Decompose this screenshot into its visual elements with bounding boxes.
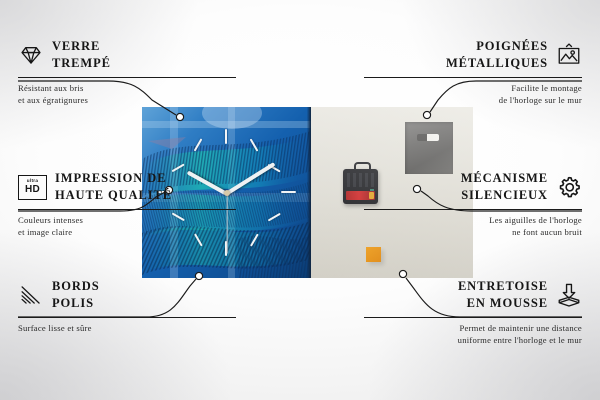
polished-edge-lines-icon (18, 282, 44, 308)
ultra-hd-badge-icon: ultra HD (18, 175, 47, 200)
callout-title: IMPRESSION DE HAUTE QUALITÉ (55, 170, 172, 205)
callout-description: Couleurs intenses et image claire (18, 214, 236, 238)
callout-rule (364, 77, 582, 78)
callout-header: BORDS POLIS (18, 278, 236, 313)
gear-icon (556, 174, 582, 200)
callout-rule (364, 317, 582, 318)
callout-header: MÉCANISME SILENCIEUX (364, 170, 582, 205)
callout-title: POIGNÉES MÉTALLIQUES (446, 38, 548, 73)
wire-dot-verre-trempe (176, 113, 183, 120)
callout-rule (364, 209, 582, 210)
callout-impression-haute-qualite[interactable]: ultra HD IMPRESSION DE HAUTE QUALITÉ Cou… (18, 170, 236, 238)
diamond-icon (18, 42, 44, 68)
callout-description: Surface lisse et sûre (18, 322, 236, 334)
callout-description: Résistant aux bris et aux égratignures (18, 82, 236, 106)
callout-title: ENTRETOISE EN MOUSSE (458, 278, 548, 313)
wire-dot-entretoise (399, 270, 406, 277)
callout-rule (18, 77, 236, 78)
callout-rule (18, 209, 236, 210)
callout-description: Les aiguilles de l'horloge ne font aucun… (364, 214, 582, 238)
callout-header: POIGNÉES MÉTALLIQUES (364, 38, 582, 73)
callout-mecanisme-silencieux[interactable]: MÉCANISME SILENCIEUX Les aiguilles de l'… (364, 170, 582, 238)
badge-hd-text: HD (25, 185, 40, 195)
foam-spacer-arrow-icon (556, 282, 582, 308)
callout-entretoise-en-mousse[interactable]: ENTRETOISE EN MOUSSE Permet de maintenir… (364, 278, 582, 346)
callout-description: Permet de maintenir une distance uniform… (364, 322, 582, 346)
callout-header: VERRE TREMPÉ (18, 38, 236, 73)
callout-bords-polis[interactable]: BORDS POLIS Surface lisse et sûre (18, 278, 236, 334)
callout-description: Facilite le montage de l'horloge sur le … (364, 82, 582, 106)
callout-rule (18, 317, 236, 318)
callout-poignees-metalliques[interactable]: POIGNÉES MÉTALLIQUES Facilite le montage… (364, 38, 582, 106)
wire-dot-poignees (423, 111, 430, 118)
callout-title: BORDS POLIS (52, 278, 100, 313)
infographic-canvas: VERRE TREMPÉ Résistant aux bris et aux é… (0, 0, 600, 400)
callout-title: MÉCANISME SILENCIEUX (461, 170, 548, 205)
callout-header: ENTRETOISE EN MOUSSE (364, 278, 582, 313)
callout-verre-trempe[interactable]: VERRE TREMPÉ Résistant aux bris et aux é… (18, 38, 236, 106)
picture-hanger-icon (556, 42, 582, 68)
callout-title: VERRE TREMPÉ (52, 38, 111, 73)
callout-header: ultra HD IMPRESSION DE HAUTE QUALITÉ (18, 170, 236, 205)
